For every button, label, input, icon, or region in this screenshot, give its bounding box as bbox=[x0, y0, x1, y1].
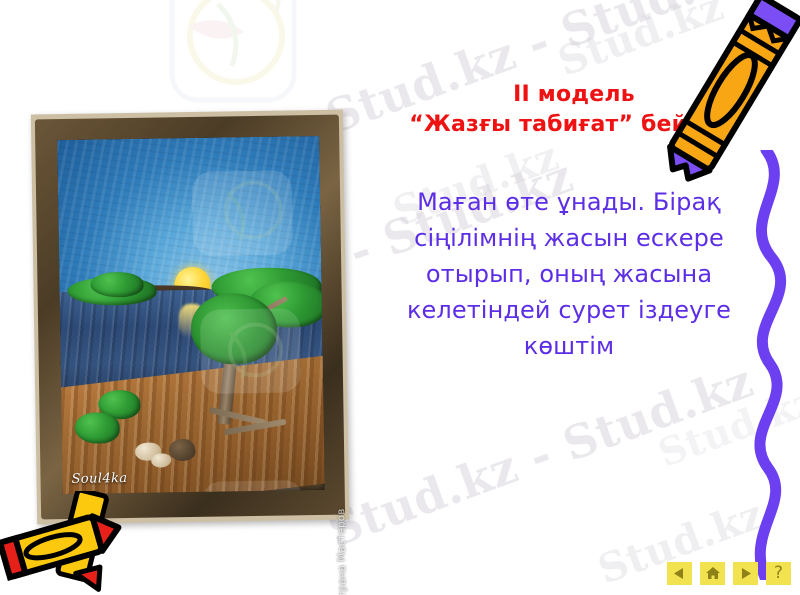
artwork-copyright: © Страна Мастеров bbox=[335, 509, 349, 595]
site-logo-watermark bbox=[158, 0, 308, 114]
help-button[interactable]: ? bbox=[766, 562, 791, 585]
yellow-crayon-icon bbox=[0, 491, 132, 595]
picture-frame: Soul4ka © Страна Мастеров bbox=[35, 115, 345, 520]
picture-canvas: Soul4ka bbox=[57, 136, 325, 494]
right-arrow-icon bbox=[738, 566, 753, 581]
artwork-photo: Soul4ka © Страна Мастеров bbox=[34, 112, 346, 522]
home-button[interactable] bbox=[700, 562, 725, 585]
presentation-slide: Stud.kz - Stud.kz Stud.kz - Stud.kz Stud… bbox=[0, 0, 800, 595]
purple-squiggle-icon bbox=[732, 150, 800, 580]
navigation-bar: ? bbox=[667, 562, 791, 585]
watermark-text: Stud.kz - Stud.kz bbox=[321, 353, 760, 557]
question-icon: ? bbox=[774, 565, 783, 582]
slide-body-text: Маған өте ұнады. Бірақ сіңілімнің жасын … bbox=[382, 184, 778, 364]
artwork-signature: Soul4ka bbox=[71, 471, 127, 487]
forward-button[interactable] bbox=[733, 562, 758, 585]
back-button[interactable] bbox=[667, 562, 692, 585]
orange-crayon-icon bbox=[656, 0, 800, 190]
home-icon bbox=[705, 566, 721, 581]
bush-shape bbox=[91, 271, 144, 297]
slide-title-line1: II модель bbox=[513, 82, 635, 107]
left-arrow-icon bbox=[672, 566, 687, 581]
bush-shape bbox=[75, 412, 120, 445]
